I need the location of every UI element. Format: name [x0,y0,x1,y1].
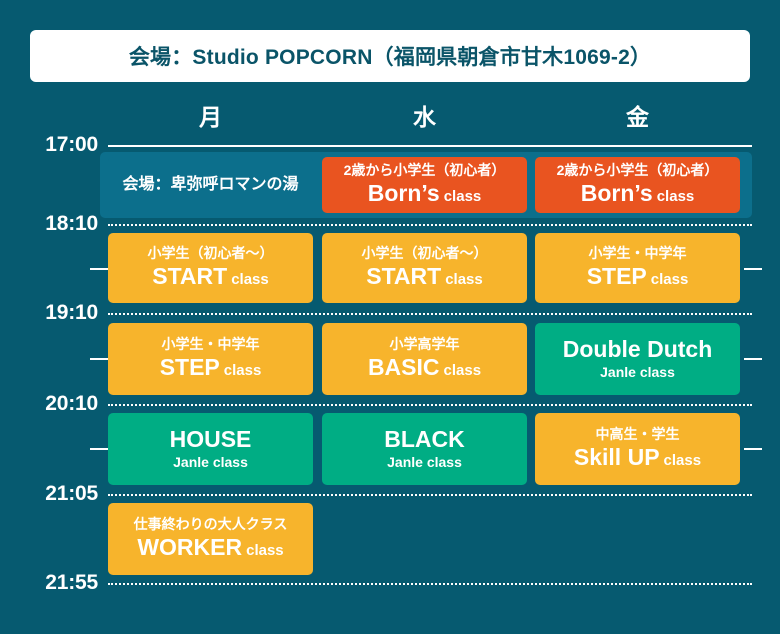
time-label-17-00: 17:00 [22,133,98,157]
class-card-mon-3[interactable]: 小学生・中学年 STEP class [108,323,313,395]
row-tick-left-2 [90,268,108,270]
class-card-wed-4[interactable]: BLACK Janle class [322,413,527,485]
row-tick-right-4 [744,448,762,450]
class-card-title-text: BLACK [384,426,465,454]
class-card-sub: 2歳から小学生（初心者） [344,162,506,180]
class-card-sub: 小学生・中学年 [162,336,260,354]
class-card-title-suffix: class [444,362,482,380]
class-card-title: BLACK [384,426,465,454]
class-card-title-suffix: class [246,542,284,560]
time-label-18-10: 18:10 [22,212,98,236]
class-card-sub: 小学高学年 [390,336,460,354]
grid-rule-18-10 [108,224,752,226]
class-card-sub: 小学生（初心者〜） [148,245,274,263]
row-tick-right-2 [744,268,762,270]
class-card-title-suffix: class [231,271,269,289]
class-card-title: STEP class [587,263,689,291]
class-card-title-text: START [366,263,441,291]
row-tick-left-3 [90,358,108,360]
grid-rule-17-00 [108,145,752,147]
class-card-title-text: HOUSE [170,426,252,454]
time-label-19-10: 19:10 [22,301,98,325]
row-tick-right-3 [744,358,762,360]
class-card-title-suffix: class [445,271,483,289]
class-card-title-text: WORKER [137,534,242,562]
class-card-fri-4[interactable]: 中高生・学生 Skill UP class [535,413,740,485]
class-card-title-text: Born’s [368,180,440,208]
time-label-21-05: 21:05 [22,482,98,506]
grid-rule-20-10 [108,404,752,406]
class-card-mon-2[interactable]: 小学生（初心者〜） START class [108,233,313,303]
class-card-sub: 中高生・学生 [596,426,680,444]
grid-rule-21-55 [108,583,752,585]
class-card-title: START class [152,263,269,291]
class-card-sub: 会場：卑弥呼ロマンの湯 [122,175,298,195]
class-card-sub: 2歳から小学生（初心者） [557,162,719,180]
class-card-mon-4[interactable]: HOUSE Janle class [108,413,313,485]
class-card-title-suffix: class [664,452,702,470]
class-card-under: Janle class [387,454,462,472]
time-label-21-55: 21:55 [22,571,98,595]
class-card-title: Born’s class [368,180,482,208]
class-card-title: Skill UP class [574,444,701,472]
class-card-title-text: STEP [160,354,220,382]
class-card-wed-1[interactable]: 2歳から小学生（初心者） Born’s class [322,157,527,213]
class-card-fri-3[interactable]: Double Dutch Janle class [535,323,740,395]
class-card-title-text: Double Dutch [563,336,713,364]
class-card-title: START class [366,263,483,291]
class-card-title-text: START [152,263,227,291]
class-card-mon-1[interactable]: 会場：卑弥呼ロマンの湯 [108,157,313,213]
schedule-grid: 17:00 18:10 19:10 20:10 21:05 21:55 会場：卑… [0,0,780,634]
class-card-title: HOUSE [170,426,252,454]
class-card-sub: 小学生（初心者〜） [362,245,488,263]
class-card-title-suffix: class [444,188,482,206]
class-card-fri-2[interactable]: 小学生・中学年 STEP class [535,233,740,303]
class-card-title-suffix: class [651,271,689,289]
class-card-fri-1[interactable]: 2歳から小学生（初心者） Born’s class [535,157,740,213]
class-card-title: WORKER class [137,534,283,562]
class-card-title: BASIC class [368,354,481,382]
class-card-wed-3[interactable]: 小学高学年 BASIC class [322,323,527,395]
time-label-20-10: 20:10 [22,392,98,416]
class-card-under: Janle class [600,364,675,382]
class-card-title-suffix: class [657,188,695,206]
class-card-title-text: BASIC [368,354,440,382]
grid-rule-19-10 [108,313,752,315]
class-card-title-text: STEP [587,263,647,291]
class-card-title: Born’s class [581,180,695,208]
class-card-title-text: Skill UP [574,444,660,472]
class-card-mon-5[interactable]: 仕事終わりの大人クラス WORKER class [108,503,313,575]
class-card-title-suffix: class [224,362,262,380]
class-card-title: Double Dutch [563,336,713,364]
class-card-under: Janle class [173,454,248,472]
row-tick-left-4 [90,448,108,450]
grid-rule-21-05 [108,494,752,496]
class-card-sub: 小学生・中学年 [589,245,687,263]
class-card-wed-2[interactable]: 小学生（初心者〜） START class [322,233,527,303]
class-card-title-text: Born’s [581,180,653,208]
class-card-title: STEP class [160,354,262,382]
class-card-sub: 仕事終わりの大人クラス [134,516,288,534]
